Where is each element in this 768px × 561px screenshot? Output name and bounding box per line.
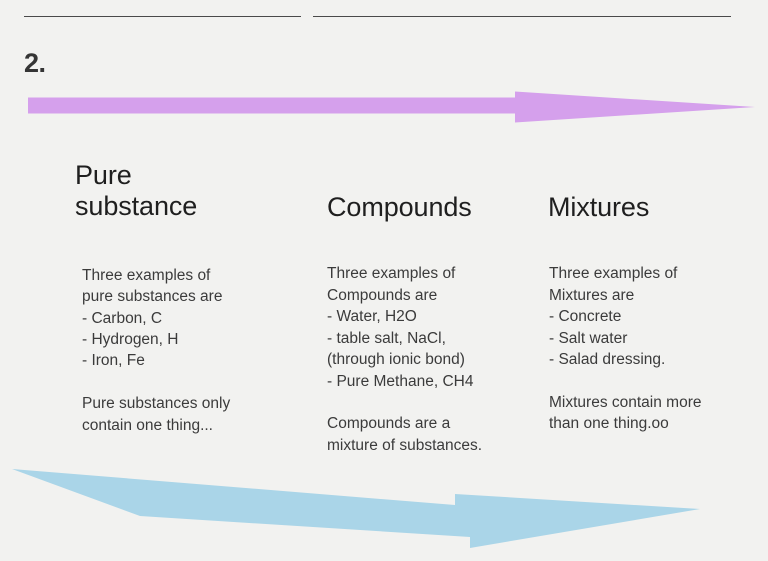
column-heading-mixtures: Mixtures — [548, 192, 763, 223]
column-body-mixtures: Three examples of Mixtures are - Concret… — [549, 263, 763, 435]
bottom-arrow-blue-icon — [12, 469, 700, 548]
slide-number: 2. — [24, 50, 46, 77]
column-mixtures: Mixtures Three examples of Mixtures are … — [548, 192, 763, 435]
column-heading-pure-substance: Pure substance — [75, 160, 310, 223]
top-rule-left — [24, 16, 301, 17]
slide-canvas: 2. Pure substance Three examples of pure… — [0, 0, 768, 561]
column-body-compounds: Three examples of Compounds are - Water,… — [327, 263, 532, 456]
column-body-pure-substance: Three examples of pure substances are - … — [82, 265, 310, 437]
column-pure-substance: Pure substance Three examples of pure su… — [75, 160, 310, 436]
column-compounds: Compounds Three examples of Compounds ar… — [327, 192, 532, 456]
column-heading-compounds: Compounds — [327, 192, 532, 223]
top-rule-right — [313, 16, 731, 17]
top-arrow-purple-icon — [28, 92, 755, 123]
